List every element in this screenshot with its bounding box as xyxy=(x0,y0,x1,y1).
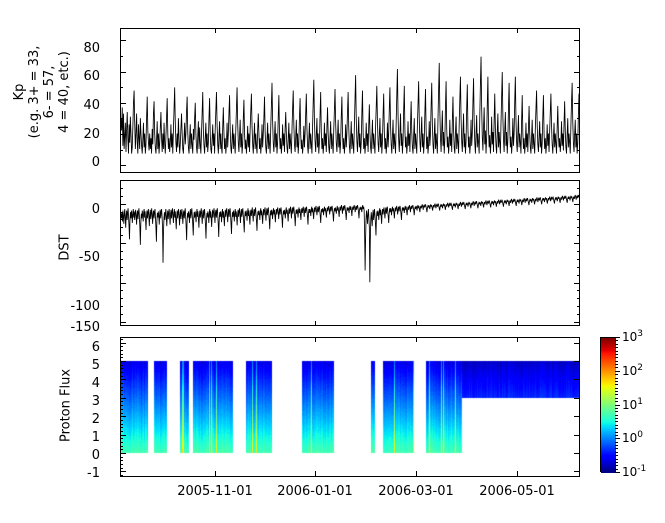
axis-tick xyxy=(120,372,123,373)
dst-panel xyxy=(120,180,580,326)
axis-tick xyxy=(416,168,417,173)
colorbar-gradient xyxy=(601,338,616,473)
proton-ytick-2: 2 xyxy=(68,412,100,427)
axis-tick xyxy=(120,431,123,432)
axis-tick xyxy=(574,361,580,362)
axis-tick xyxy=(120,464,123,465)
axis-tick xyxy=(615,391,618,392)
axis-tick xyxy=(517,180,518,185)
axis-tick xyxy=(120,427,123,428)
axis-tick xyxy=(577,118,580,119)
axis-tick xyxy=(120,196,123,197)
axis-tick xyxy=(120,235,123,236)
axis-tick xyxy=(574,40,580,41)
axis-tick xyxy=(120,350,123,351)
axis-tick xyxy=(615,411,618,412)
axis-tick xyxy=(120,267,123,268)
kp-ytick-20: 20 xyxy=(62,127,100,142)
axis-tick xyxy=(120,118,123,119)
dst-ytick-m50: -50 xyxy=(52,250,100,265)
axis-tick xyxy=(416,471,417,477)
axis-tick xyxy=(120,438,123,439)
kp-ytick-60: 60 xyxy=(62,69,100,84)
axis-tick xyxy=(416,28,417,33)
axis-tick xyxy=(120,290,123,291)
axis-tick xyxy=(120,314,123,315)
xaxis-tick-label: 2006-01-01 xyxy=(260,484,370,499)
axis-tick xyxy=(577,87,580,88)
axis-tick xyxy=(215,28,216,33)
axis-tick xyxy=(120,383,123,384)
axis-tick xyxy=(615,381,618,382)
axis-tick xyxy=(315,337,316,342)
proton-ytick-5: 5 xyxy=(68,358,100,373)
axis-tick xyxy=(215,168,216,173)
axis-tick xyxy=(577,219,580,220)
axis-tick xyxy=(215,471,216,477)
axis-tick xyxy=(615,418,618,419)
axis-tick xyxy=(574,343,580,344)
colorbar-tick-label: 100 xyxy=(622,430,643,445)
axis-tick xyxy=(120,398,123,399)
axis-tick xyxy=(615,432,618,433)
axis-tick xyxy=(416,321,417,326)
axis-tick xyxy=(120,227,123,228)
axis-tick xyxy=(120,420,123,421)
axis-tick xyxy=(615,394,618,395)
axis-tick xyxy=(574,453,580,454)
axis-tick xyxy=(615,398,618,399)
axis-tick xyxy=(615,435,618,436)
axis-tick xyxy=(315,180,316,185)
axis-tick xyxy=(577,267,580,268)
axis-tick xyxy=(120,298,123,299)
axis-tick xyxy=(120,390,123,391)
axis-tick xyxy=(577,298,580,299)
axis-tick xyxy=(215,337,216,342)
axis-tick xyxy=(577,306,580,307)
axis-tick xyxy=(120,401,123,402)
axis-tick xyxy=(315,321,316,326)
axis-tick xyxy=(615,351,618,352)
axis-tick xyxy=(120,387,123,388)
axis-tick xyxy=(615,340,618,341)
axis-tick xyxy=(574,379,580,380)
axis-tick xyxy=(577,150,580,151)
axis-tick xyxy=(120,322,126,323)
axis-tick xyxy=(120,259,123,260)
axis-tick xyxy=(416,337,417,342)
axis-tick xyxy=(120,457,123,458)
axis-tick xyxy=(615,367,618,368)
axis-tick xyxy=(120,204,126,205)
proton-flux-spectrogram xyxy=(121,338,579,476)
axis-tick xyxy=(517,168,518,173)
axis-tick xyxy=(577,227,580,228)
axis-tick xyxy=(120,165,126,166)
axis-tick xyxy=(120,368,123,369)
axis-tick xyxy=(615,452,618,453)
xaxis-tick-label: 2006-05-01 xyxy=(462,484,572,499)
proton-ytick-3: 3 xyxy=(68,394,100,409)
dst-ytick-m100: -100 xyxy=(52,299,100,314)
xaxis-tick-label: 2005-11-01 xyxy=(160,484,270,499)
axis-tick xyxy=(120,103,126,104)
axis-tick xyxy=(215,321,216,326)
axis-tick xyxy=(120,460,123,461)
axis-tick xyxy=(120,275,123,276)
proton-ytick-6: 6 xyxy=(68,340,100,355)
axis-tick xyxy=(615,462,618,463)
axis-tick xyxy=(615,438,620,439)
axis-tick xyxy=(215,180,216,185)
axis-tick xyxy=(615,374,618,375)
axis-tick xyxy=(120,134,126,135)
axis-tick xyxy=(120,212,123,213)
axis-tick xyxy=(615,337,620,338)
axis-tick xyxy=(574,471,580,472)
axis-tick xyxy=(615,361,618,362)
axis-tick xyxy=(577,56,580,57)
axis-tick xyxy=(615,421,618,422)
axis-tick xyxy=(615,459,618,460)
axis-tick xyxy=(615,405,620,406)
axis-tick xyxy=(120,251,123,252)
axis-tick xyxy=(574,134,580,135)
axis-tick xyxy=(615,347,618,348)
axis-tick xyxy=(120,453,123,454)
axis-tick xyxy=(120,87,123,88)
axis-tick xyxy=(615,455,618,456)
axis-tick xyxy=(120,361,123,362)
axis-tick xyxy=(120,405,123,406)
axis-tick xyxy=(615,472,620,473)
axis-tick xyxy=(120,394,123,395)
proton-ytick-m1: -1 xyxy=(62,466,100,481)
axis-tick xyxy=(615,415,618,416)
axis-tick xyxy=(120,56,123,57)
axis-tick xyxy=(574,322,580,323)
axis-tick xyxy=(120,442,123,443)
axis-tick xyxy=(120,72,126,73)
axis-tick xyxy=(615,371,620,372)
axis-tick xyxy=(120,283,126,284)
axis-tick xyxy=(615,388,618,389)
axis-tick xyxy=(120,365,123,366)
proton-ytick-4: 4 xyxy=(68,376,100,391)
axis-tick xyxy=(120,346,123,347)
axis-tick xyxy=(577,188,580,189)
axis-tick xyxy=(517,321,518,326)
figure-canvas: Kp (e.g. 3+ = 33, 6- = 57, 4 = 40, etc.)… xyxy=(0,0,665,523)
colorbar xyxy=(600,337,615,472)
axis-tick xyxy=(574,243,580,244)
axis-tick xyxy=(574,204,580,205)
axis-tick xyxy=(574,103,580,104)
kp-ytick-40: 40 xyxy=(62,98,100,113)
axis-tick xyxy=(517,471,518,477)
axis-tick xyxy=(120,188,123,189)
axis-tick xyxy=(120,339,123,340)
axis-tick xyxy=(577,251,580,252)
proton-ytick-0: 0 xyxy=(68,448,100,463)
axis-tick xyxy=(615,354,618,355)
axis-tick xyxy=(577,259,580,260)
axis-tick xyxy=(577,275,580,276)
axis-tick xyxy=(315,28,316,33)
axis-tick xyxy=(120,416,123,417)
kp-ytick-80: 80 xyxy=(62,41,100,56)
axis-tick xyxy=(120,306,123,307)
colorbar-tick-label: 10-1 xyxy=(622,464,646,479)
axis-tick xyxy=(120,468,123,469)
axis-tick xyxy=(120,409,123,410)
axis-tick xyxy=(517,28,518,33)
axis-tick xyxy=(574,398,580,399)
axis-tick xyxy=(574,165,580,166)
axis-tick xyxy=(120,150,123,151)
proton-flux-panel xyxy=(120,337,580,477)
axis-tick xyxy=(120,449,123,450)
axis-tick xyxy=(120,413,123,414)
kp-panel xyxy=(120,28,580,173)
axis-tick xyxy=(574,416,580,417)
axis-tick xyxy=(120,424,123,425)
axis-tick xyxy=(120,343,123,344)
axis-tick xyxy=(120,243,126,244)
axis-tick xyxy=(615,357,618,358)
proton-ytick-1: 1 xyxy=(68,430,100,445)
axis-tick xyxy=(577,290,580,291)
axis-tick xyxy=(120,354,123,355)
axis-tick xyxy=(615,401,618,402)
colorbar-tick-label: 101 xyxy=(622,397,643,412)
axis-tick xyxy=(615,384,618,385)
axis-tick xyxy=(120,219,123,220)
colorbar-tick-label: 102 xyxy=(622,363,643,378)
axis-tick xyxy=(615,445,618,446)
axis-tick xyxy=(120,475,123,476)
axis-tick xyxy=(416,180,417,185)
axis-tick xyxy=(315,168,316,173)
axis-tick xyxy=(615,442,618,443)
dst-ytick-m150: -150 xyxy=(52,320,100,335)
kp-ytick-0: 0 xyxy=(62,155,100,170)
axis-tick xyxy=(615,364,618,365)
dst-trace xyxy=(121,181,579,325)
axis-tick xyxy=(120,379,123,380)
axis-tick xyxy=(574,72,580,73)
axis-tick xyxy=(615,428,618,429)
axis-tick xyxy=(615,465,618,466)
axis-tick xyxy=(615,425,618,426)
axis-tick xyxy=(577,196,580,197)
axis-tick xyxy=(120,376,123,377)
axis-tick xyxy=(315,471,316,477)
axis-tick xyxy=(120,446,123,447)
axis-tick xyxy=(120,435,123,436)
axis-tick xyxy=(615,408,618,409)
axis-tick xyxy=(574,435,580,436)
axis-tick xyxy=(577,212,580,213)
axis-tick xyxy=(615,344,618,345)
axis-tick xyxy=(120,471,123,472)
axis-tick xyxy=(577,314,580,315)
axis-tick xyxy=(577,235,580,236)
xaxis-tick-label: 2006-03-01 xyxy=(361,484,471,499)
axis-tick xyxy=(615,469,618,470)
axis-tick xyxy=(120,40,126,41)
colorbar-tick-label: 103 xyxy=(622,329,643,344)
axis-tick xyxy=(120,357,123,358)
kp-axis-label: Kp (e.g. 3+ = 33, 6- = 57, 4 = 40, etc.) xyxy=(12,12,72,172)
axis-tick xyxy=(615,448,618,449)
axis-tick xyxy=(517,337,518,342)
axis-tick xyxy=(574,283,580,284)
kp-trace xyxy=(121,29,579,172)
axis-tick xyxy=(615,378,618,379)
dst-ytick-0: 0 xyxy=(52,202,100,217)
